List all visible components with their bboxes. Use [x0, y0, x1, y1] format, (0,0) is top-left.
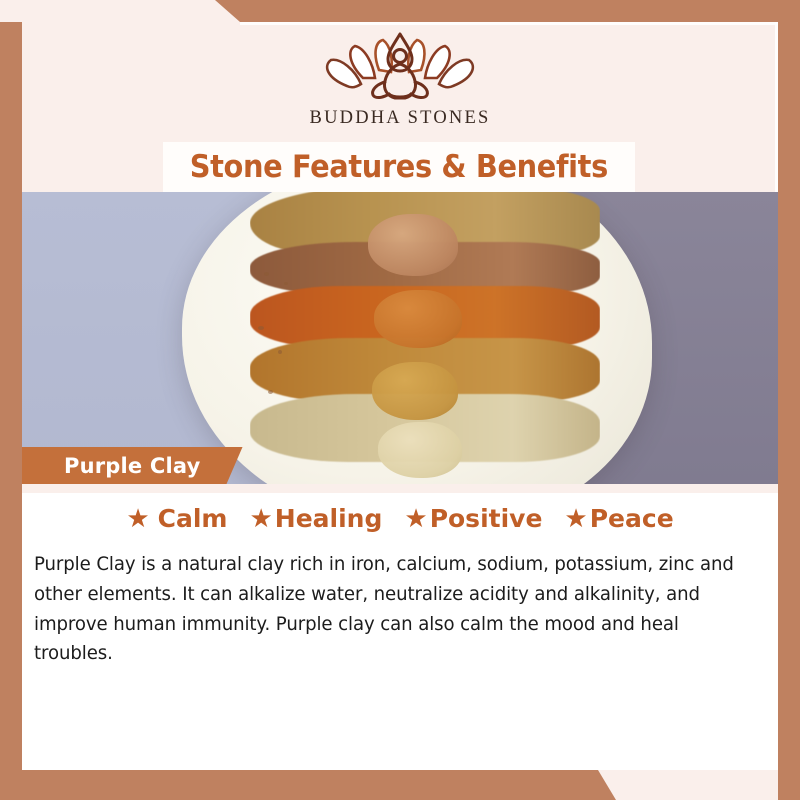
benefit-item-positive: ★ Positive	[404, 504, 542, 533]
content-top-strip	[22, 484, 778, 493]
star-icon: ★	[126, 506, 149, 532]
frame-border-bottom	[0, 770, 800, 800]
star-icon: ★	[249, 506, 272, 532]
benefit-item-healing: ★ Healing	[249, 504, 382, 533]
benefit-label: Positive	[430, 504, 543, 533]
brand-name: BUDDHA STONES	[310, 108, 491, 129]
stone-name-label: Purple Clay	[64, 454, 201, 478]
benefit-label: Healing	[275, 504, 383, 533]
powder-speck	[258, 326, 264, 330]
content-panel: ★ Calm ★ Healing ★ Positive ★ Peace Purp…	[22, 484, 778, 770]
clay-powder-stripes	[250, 192, 600, 484]
brand-logo: BUDDHA STONES	[0, 26, 800, 138]
stone-description: Purple Clay is a natural clay rich in ir…	[34, 550, 754, 669]
powder-speck	[284, 282, 288, 285]
star-icon: ★	[564, 506, 587, 532]
star-icon: ★	[404, 506, 427, 532]
benefit-label: Peace	[590, 504, 674, 533]
benefit-item-calm: ★ Calm	[126, 504, 227, 533]
powder-speck	[264, 272, 269, 276]
frame-inner-line-top	[240, 22, 778, 25]
frame-border-left	[0, 22, 22, 800]
powder-speck	[278, 350, 282, 354]
benefits-row: ★ Calm ★ Healing ★ Positive ★ Peace	[22, 504, 778, 533]
lotus-meditation-icon	[317, 26, 483, 106]
frame-border-top	[0, 0, 800, 22]
stone-name-badge: Purple Clay	[22, 447, 243, 484]
powder-disc-rust	[374, 290, 462, 348]
powder-disc-cream	[378, 422, 462, 478]
powder-disc-tan	[368, 214, 458, 276]
infographic-page: BUDDHA STONES Stone Features & Benefits	[0, 0, 800, 800]
powder-disc-ochre	[372, 362, 458, 420]
benefit-item-peace: ★ Peace	[564, 504, 673, 533]
powder-speck	[268, 390, 273, 394]
benefit-label: Calm	[158, 504, 228, 533]
product-photo	[22, 192, 778, 484]
title-banner: Stone Features & Benefits	[163, 142, 635, 192]
page-title: Stone Features & Benefits	[190, 149, 608, 185]
